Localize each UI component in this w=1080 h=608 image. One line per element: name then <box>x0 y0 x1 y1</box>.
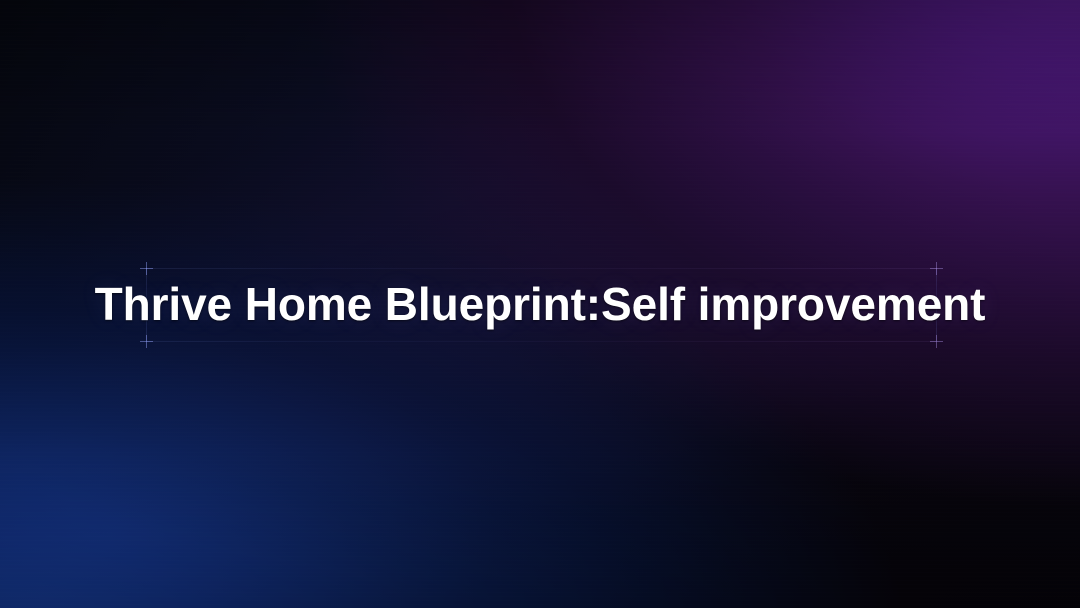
slide-title: Thrive Home Blueprint:Self improvement <box>95 279 986 330</box>
title-container: Thrive Home Blueprint:Self improvement <box>0 0 1080 608</box>
title-slide: Thrive Home Blueprint:Self improvement <box>0 0 1080 608</box>
